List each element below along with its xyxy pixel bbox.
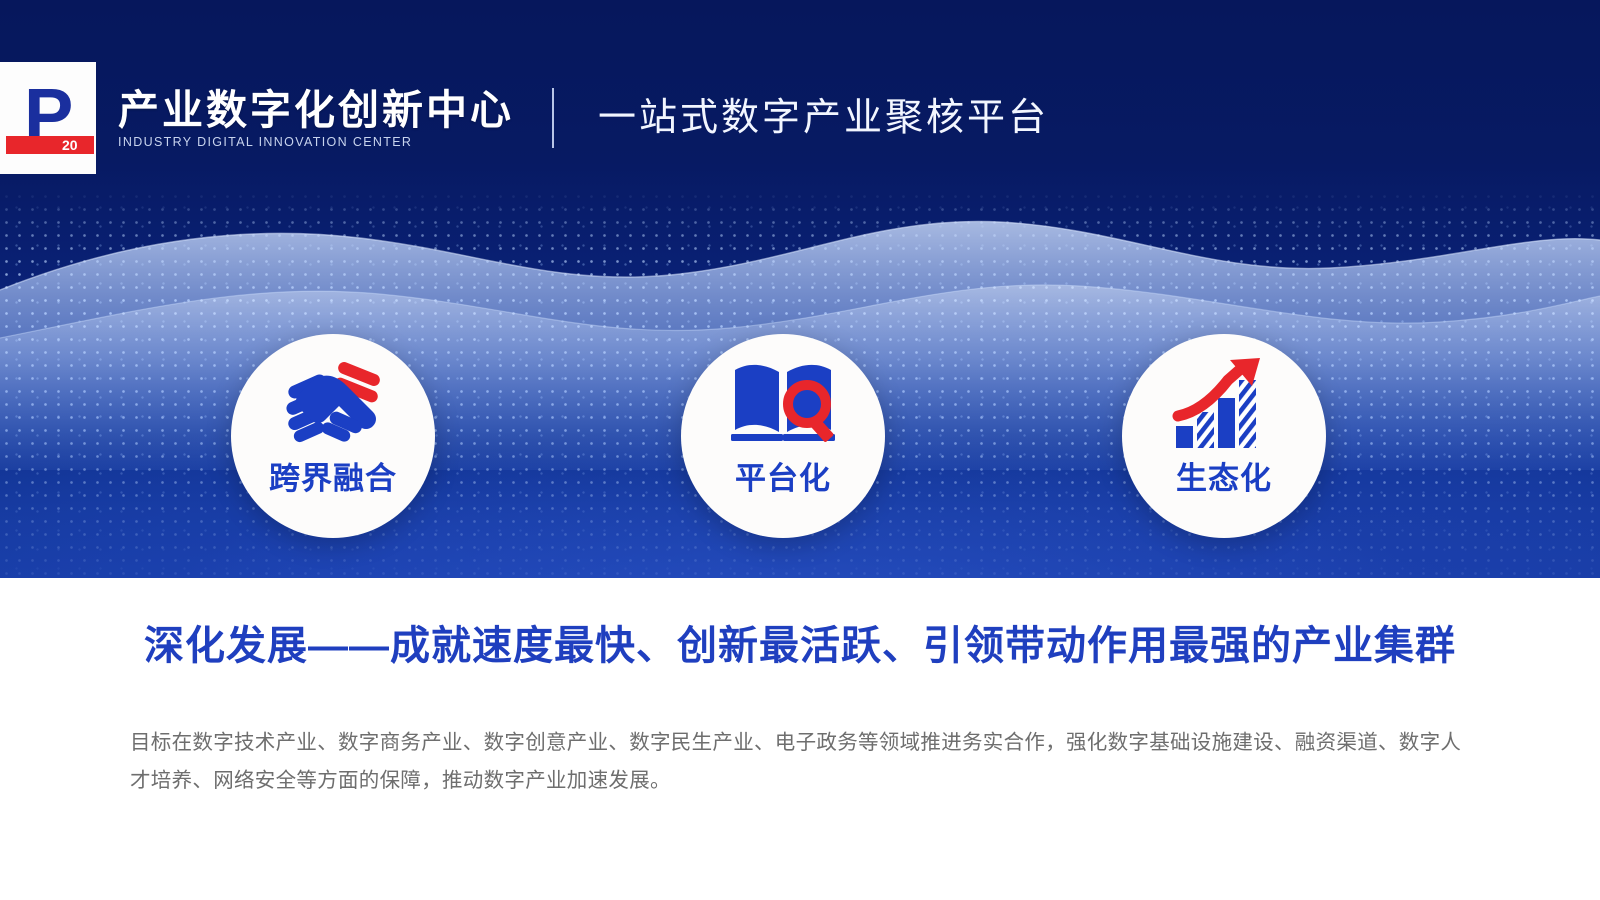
feature-label: 平台化 (735, 462, 831, 496)
header-divider (552, 88, 554, 148)
feature-label: 跨界融合 (269, 462, 397, 496)
brand-block: 产业数字化创新中心 INDUSTRY DIGITAL INNOVATION CE… (118, 87, 514, 149)
handshake-icon (277, 348, 389, 460)
feature-label: 生态化 (1176, 462, 1272, 496)
feature-card-kuajie-ronghe[interactable]: 跨界融合 (231, 334, 435, 538)
feature-card-shengtaihua[interactable]: 生态化 (1122, 334, 1326, 538)
feature-circles: 跨界融合 平台化 (0, 334, 1600, 538)
header-tagline: 一站式数字产业聚核平台 (598, 96, 1049, 140)
brand-name-en: INDUSTRY DIGITAL INNOVATION CENTER (118, 135, 514, 149)
section-paragraph: 目标在数字技术产业、数字商务产业、数字创意产业、数字民生产业、电子政务等领域推进… (130, 724, 1470, 800)
feature-card-pingtaihua[interactable]: 平台化 (681, 334, 885, 538)
site-header: P 20 产业数字化创新中心 INDUSTRY DIGITAL INNOVATI… (0, 62, 1049, 174)
logo-red-bar (6, 136, 94, 154)
bottom-section: 深化发展——成就速度最快、创新最活跃、引领带动作用最强的产业集群 目标在数字技术… (0, 578, 1600, 900)
section-headline: 深化发展——成就速度最快、创新最活跃、引领带动作用最强的产业集群 (0, 620, 1600, 672)
hero-banner: P 20 产业数字化创新中心 INDUSTRY DIGITAL INNOVATI… (0, 0, 1600, 578)
book-search-icon (727, 348, 839, 460)
brand-name-cn: 产业数字化创新中心 (118, 87, 514, 133)
p-mark-logo[interactable]: P 20 (0, 62, 96, 174)
growth-chart-icon (1168, 348, 1280, 460)
logo-badge-number: 20 (62, 136, 78, 154)
